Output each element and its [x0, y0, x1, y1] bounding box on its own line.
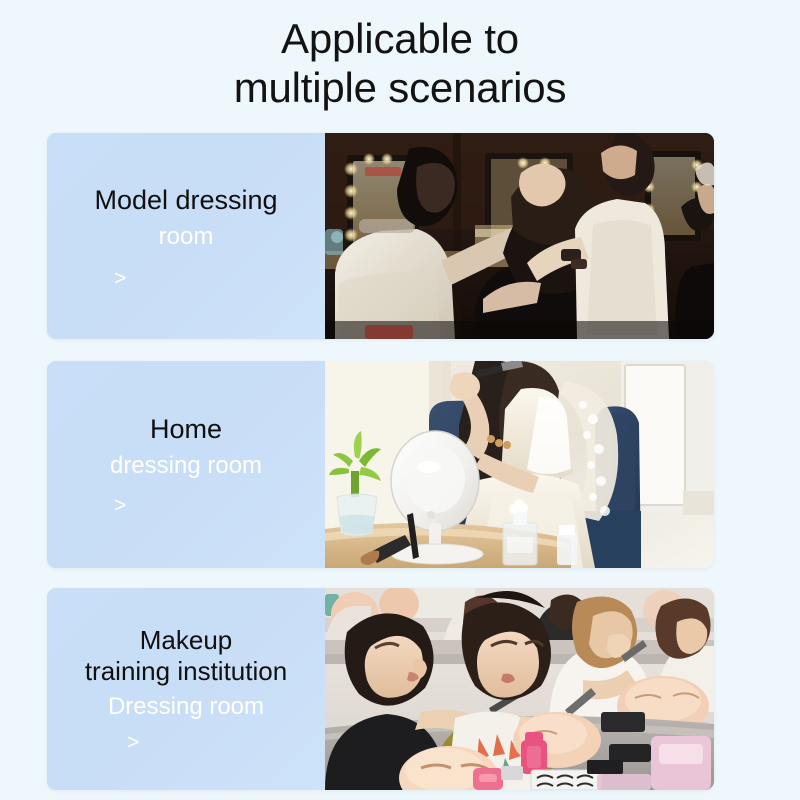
chevron-right-icon[interactable]: >: [61, 268, 311, 289]
page-title-line-2: multiple scenarios: [0, 63, 800, 112]
scenario-photo-makeup-training-institution: [325, 588, 714, 790]
scenario-photo-model-dressing-room: [325, 133, 714, 339]
promo-page: Applicable to multiple scenarios Model d…: [0, 0, 800, 800]
scenario-photo-home-dressing-room: [325, 361, 714, 568]
page-title: Applicable to multiple scenarios: [0, 14, 800, 112]
scenario-subtitle: Dressing room: [61, 692, 311, 722]
scenario-title: Home: [61, 413, 311, 446]
scenario-title: Makeup training institution: [61, 625, 311, 687]
scenario-card-model-dressing-room[interactable]: Model dressing room >: [47, 133, 714, 339]
chevron-right-icon[interactable]: >: [61, 732, 311, 753]
scenario-card-makeup-training-institution[interactable]: Makeup training institution Dressing roo…: [47, 588, 714, 790]
scenario-title: Model dressing: [61, 184, 311, 217]
scenario-subtitle: dressing room: [61, 451, 311, 481]
page-title-line-1: Applicable to: [0, 14, 800, 63]
scenario-card-text-panel: Makeup training institution Dressing roo…: [47, 588, 325, 790]
scenario-card-text-panel: Model dressing room >: [47, 133, 325, 339]
scenario-card-home-dressing-room[interactable]: Home dressing room >: [47, 361, 714, 568]
scenario-subtitle: room: [61, 222, 311, 252]
scenario-card-text-panel: Home dressing room >: [47, 361, 325, 568]
chevron-right-icon[interactable]: >: [61, 495, 311, 516]
